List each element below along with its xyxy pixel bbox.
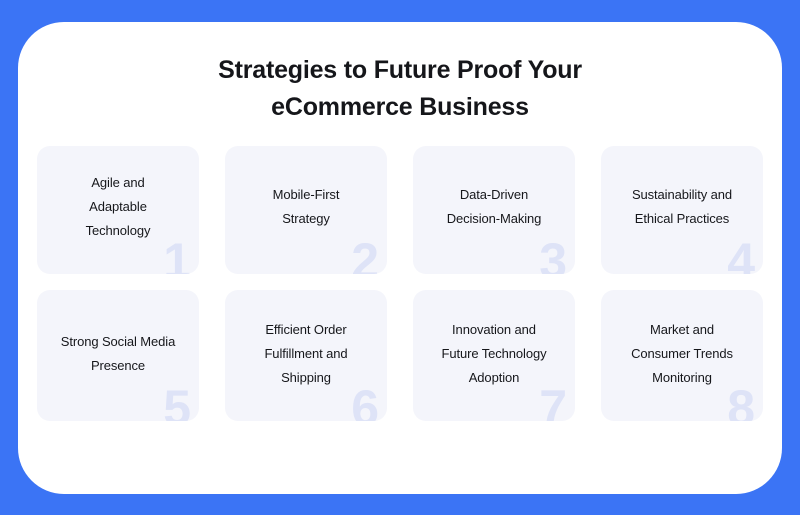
strategy-card-1-label-line-3: Technology	[86, 223, 151, 238]
strategy-card-6-label-line-3: Shipping	[281, 370, 331, 385]
strategy-card-4-label: Sustainability and Ethical Practices	[611, 183, 753, 231]
strategy-card-1-label-line-1: Agile and	[91, 175, 144, 190]
strategy-card-1[interactable]: Agile and Adaptable Technology 1	[37, 146, 199, 274]
strategy-card-5[interactable]: Strong Social Media Presence 5	[37, 290, 199, 421]
strategy-card-8-label-line-2: Consumer Trends	[631, 346, 733, 361]
strategy-card-5-label-line-2: Presence	[91, 358, 145, 373]
strategy-card-3-number: 3	[539, 236, 566, 274]
strategy-card-3-label-line-2: Decision-Making	[447, 211, 542, 226]
strategy-card-4-label-line-2: Ethical Practices	[635, 211, 729, 226]
strategy-card-5-number: 5	[163, 383, 190, 421]
strategy-card-grid: Agile and Adaptable Technology 1 Mobile-…	[37, 146, 763, 421]
strategy-card-2-number: 2	[351, 236, 378, 274]
strategy-card-3-label-line-1: Data-Driven	[460, 187, 528, 202]
content-panel: Strategies to Future Proof Your eCommerc…	[18, 22, 782, 494]
strategy-card-7-label-line-1: Innovation and	[452, 322, 536, 337]
strategy-card-7[interactable]: Innovation and Future Technology Adoptio…	[413, 290, 575, 421]
strategy-card-4-number: 4	[727, 236, 754, 274]
strategy-card-6[interactable]: Efficient Order Fulfillment and Shipping…	[225, 290, 387, 421]
strategy-card-1-label-line-2: Adaptable	[89, 199, 147, 214]
strategy-card-8-label-line-1: Market and	[650, 322, 714, 337]
page-title: Strategies to Future Proof Your eCommerc…	[18, 52, 782, 126]
strategy-card-8[interactable]: Market and Consumer Trends Monitoring 8	[601, 290, 763, 421]
strategy-card-8-label: Market and Consumer Trends Monitoring	[611, 318, 753, 390]
strategy-card-6-label: Efficient Order Fulfillment and Shipping	[235, 318, 377, 390]
strategy-card-4-label-line-1: Sustainability and	[632, 187, 732, 202]
strategy-card-1-label: Agile and Adaptable Technology	[47, 171, 189, 243]
strategy-card-7-label-line-3: Adoption	[469, 370, 520, 385]
strategy-card-5-label-line-1: Strong Social Media	[61, 334, 175, 349]
strategy-card-3[interactable]: Data-Driven Decision-Making 3	[413, 146, 575, 274]
strategy-card-7-label-line-2: Future Technology	[441, 346, 546, 361]
strategy-card-2-label-line-1: Mobile-First	[273, 187, 340, 202]
page-title-line-1: Strategies to Future Proof Your	[18, 52, 782, 89]
strategy-card-8-label-line-3: Monitoring	[652, 370, 712, 385]
strategy-card-6-label-line-1: Efficient Order	[265, 322, 346, 337]
strategy-card-6-label-line-2: Fulfillment and	[264, 346, 347, 361]
strategy-card-3-label: Data-Driven Decision-Making	[423, 183, 565, 231]
strategy-card-5-label: Strong Social Media Presence	[47, 330, 189, 378]
strategy-card-2-label: Mobile-First Strategy	[235, 183, 377, 231]
infographic-canvas: Strategies to Future Proof Your eCommerc…	[0, 0, 800, 515]
strategy-card-4[interactable]: Sustainability and Ethical Practices 4	[601, 146, 763, 274]
strategy-card-2[interactable]: Mobile-First Strategy 2	[225, 146, 387, 274]
page-title-line-2: eCommerce Business	[18, 89, 782, 126]
strategy-card-2-label-line-2: Strategy	[282, 211, 330, 226]
strategy-card-7-label: Innovation and Future Technology Adoptio…	[423, 318, 565, 390]
